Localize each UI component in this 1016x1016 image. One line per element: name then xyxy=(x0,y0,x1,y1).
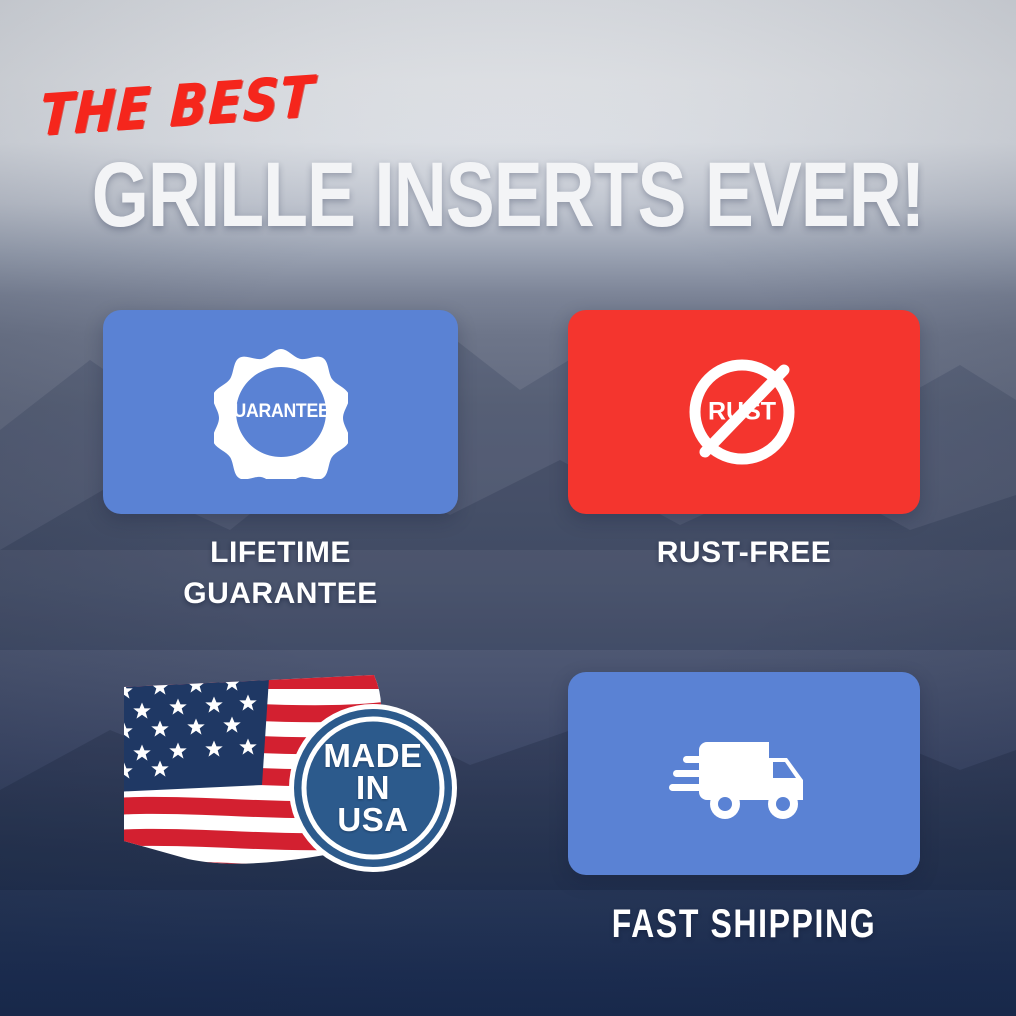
lifetime-guarantee-caption: LIFETIME GUARANTEE xyxy=(103,532,458,614)
made-in-usa-badge-text: MADE IN USA xyxy=(288,740,458,836)
caption-line-1: FAST SHIPPING xyxy=(603,897,885,952)
rust-free-caption: RUST-FREE xyxy=(568,532,920,573)
caption-line-1: RUST-FREE xyxy=(568,532,920,573)
promo-poster: THE BEST GRILLE INSERTS EVER! GUARANTEED… xyxy=(0,0,1016,1016)
feature-fast-shipping: FAST SHIPPING xyxy=(568,672,920,952)
caption-line-1: LIFETIME xyxy=(103,532,458,573)
badge-line-made: MADE xyxy=(288,740,458,772)
no-rust-icon: RUST xyxy=(680,348,808,476)
fast-shipping-caption: FAST SHIPPING xyxy=(603,897,885,952)
guaranteed-seal-icon: GUARANTEED xyxy=(214,345,348,479)
guaranteed-seal-label: GUARANTEED xyxy=(218,401,343,423)
rust-free-card[interactable]: RUST xyxy=(568,310,920,514)
no-rust-label: RUST xyxy=(678,398,806,427)
page-title: GRILLE INSERTS EVER! xyxy=(0,143,1016,248)
badge-line-usa: USA xyxy=(288,804,458,836)
lifetime-guarantee-card[interactable]: GUARANTEED xyxy=(103,310,458,514)
delivery-truck-icon xyxy=(669,726,819,822)
made-in-usa-badge[interactable]: MADE IN USA xyxy=(288,703,458,873)
feature-lifetime-guarantee: GUARANTEED LIFETIME GUARANTEE xyxy=(103,310,458,614)
fast-shipping-card[interactable] xyxy=(568,672,920,875)
caption-line-2: GUARANTEE xyxy=(103,573,458,614)
feature-made-in-usa: MADE IN USA xyxy=(96,665,476,890)
badge-line-in: IN xyxy=(288,772,458,804)
feature-rust-free: RUST RUST-FREE xyxy=(568,310,920,573)
